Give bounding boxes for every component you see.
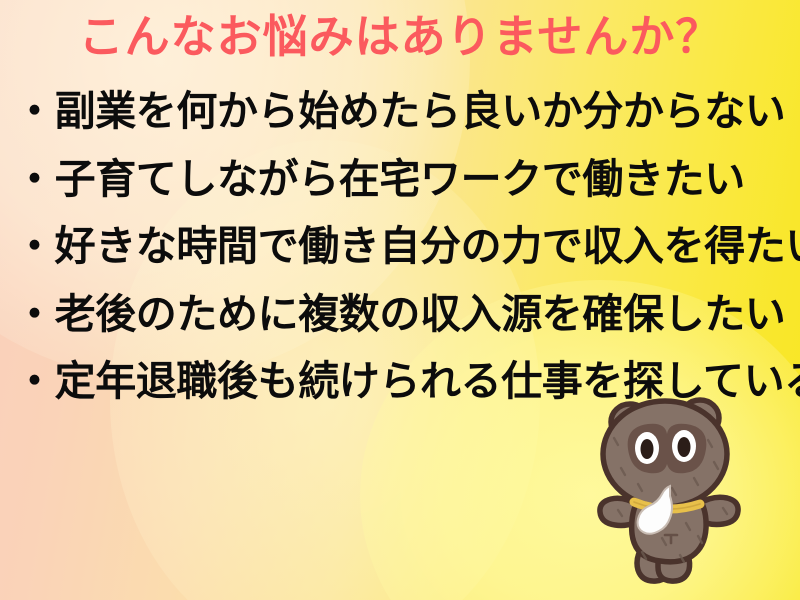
list-item: ・好きな時間で働き自分の力で収入を得たい (14, 213, 800, 281)
list-item: ・副業を何から始めたら良いか分からない (14, 78, 800, 146)
bear-right-pupil (678, 437, 691, 457)
list-item: ・老後のために複数の収入源を確保したい (14, 281, 800, 349)
bear-mascot-illustration (588, 392, 764, 588)
slide-canvas: こんなお悩みはありませんか？ ・副業を何から始めたら良いか分からない ・子育てし… (0, 0, 800, 600)
page-title: こんなお悩みはありませんか？ (0, 8, 800, 66)
bear-left-pupil (641, 439, 654, 459)
list-item: ・子育てしながら在宅ワークで働きたい (14, 146, 800, 214)
bullet-list: ・副業を何から始めたら良いか分からない ・子育てしながら在宅ワークで働きたい ・… (14, 78, 800, 416)
